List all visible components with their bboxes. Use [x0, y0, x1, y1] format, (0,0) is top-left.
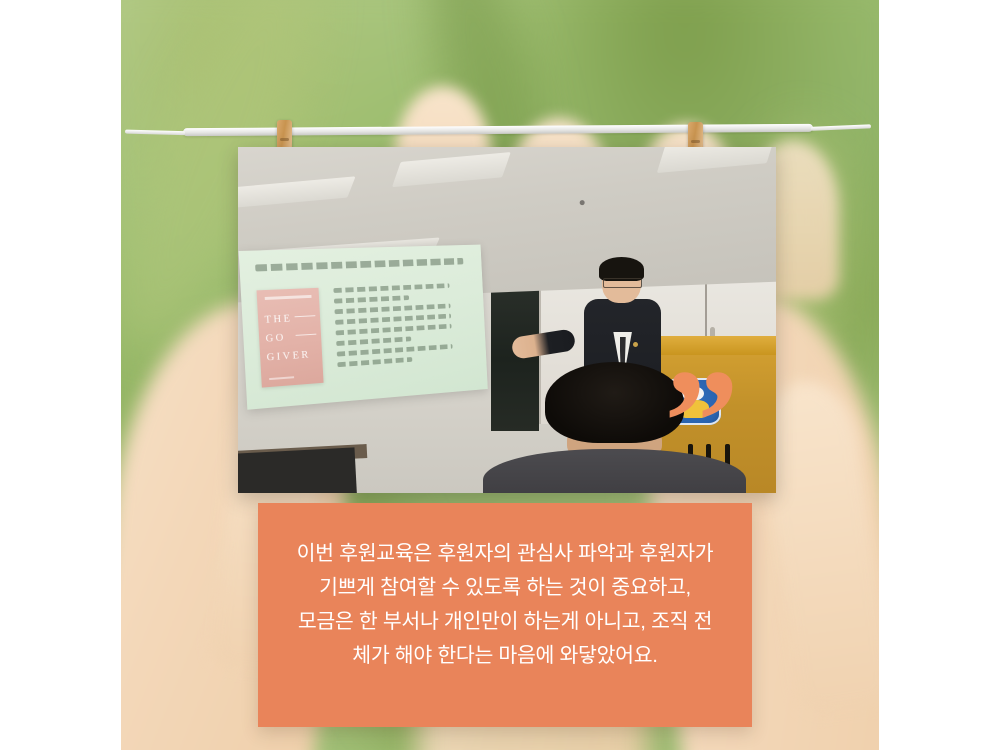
book-kicker — [265, 294, 312, 299]
audience-hair — [545, 362, 684, 443]
ceiling-light-panel — [391, 152, 511, 188]
ceiling-light-panel — [656, 147, 775, 173]
slide-bullet-line — [334, 283, 450, 293]
slide-bullet-line — [337, 344, 453, 357]
book-title-line-3: GIVER — [267, 349, 312, 363]
ceiling-light-panel — [238, 177, 355, 210]
book-footer-mark — [269, 376, 294, 380]
audience-member — [523, 362, 706, 493]
photo-scene: THE GO GIVER — [238, 147, 776, 493]
projection-screen: THE GO GIVER — [239, 244, 488, 409]
slide-bullet-line — [336, 337, 411, 347]
left-margin — [0, 0, 121, 750]
card-canvas: THE GO GIVER — [0, 0, 1000, 750]
slide-bullet-list — [334, 282, 478, 373]
slide-bullet-line — [335, 314, 451, 325]
caption-card: 이번 후원교육은 후원자의 관심사 파악과 후원자가 기쁘게 참여할 수 있도록… — [258, 503, 752, 727]
slide-bullet-line — [334, 295, 409, 303]
book-cover-image: THE GO GIVER — [257, 287, 324, 387]
caption-line-4: 체가 해야 한다는 마음에 와닿았어요. — [352, 639, 657, 673]
slide-bullet-line — [336, 324, 452, 336]
right-margin — [879, 0, 1000, 750]
book-rule — [295, 315, 316, 317]
slide-title-text — [256, 258, 465, 272]
desk — [238, 448, 358, 493]
book-title-line-2: GO — [266, 333, 287, 345]
caption-line-1: 이번 후원교육은 후원자의 관심사 파악과 후원자가 — [297, 537, 714, 571]
book-rule — [296, 334, 317, 336]
glasses-icon — [603, 278, 642, 288]
lecture-photo: THE GO GIVER — [238, 147, 776, 493]
caption-line-3: 모금은 한 부서나 개인만이 하는게 아니고, 조직 전 — [298, 605, 712, 639]
slide-bullet-line — [338, 357, 413, 367]
book-title-line-1: THE — [265, 314, 293, 326]
slide-bullet-line — [335, 304, 451, 315]
ceiling-sensor — [579, 200, 584, 205]
lapel-pin-icon — [633, 342, 638, 347]
caption-line-2: 기쁘게 참여할 수 있도록 하는 것이 중요하고, — [319, 571, 691, 605]
